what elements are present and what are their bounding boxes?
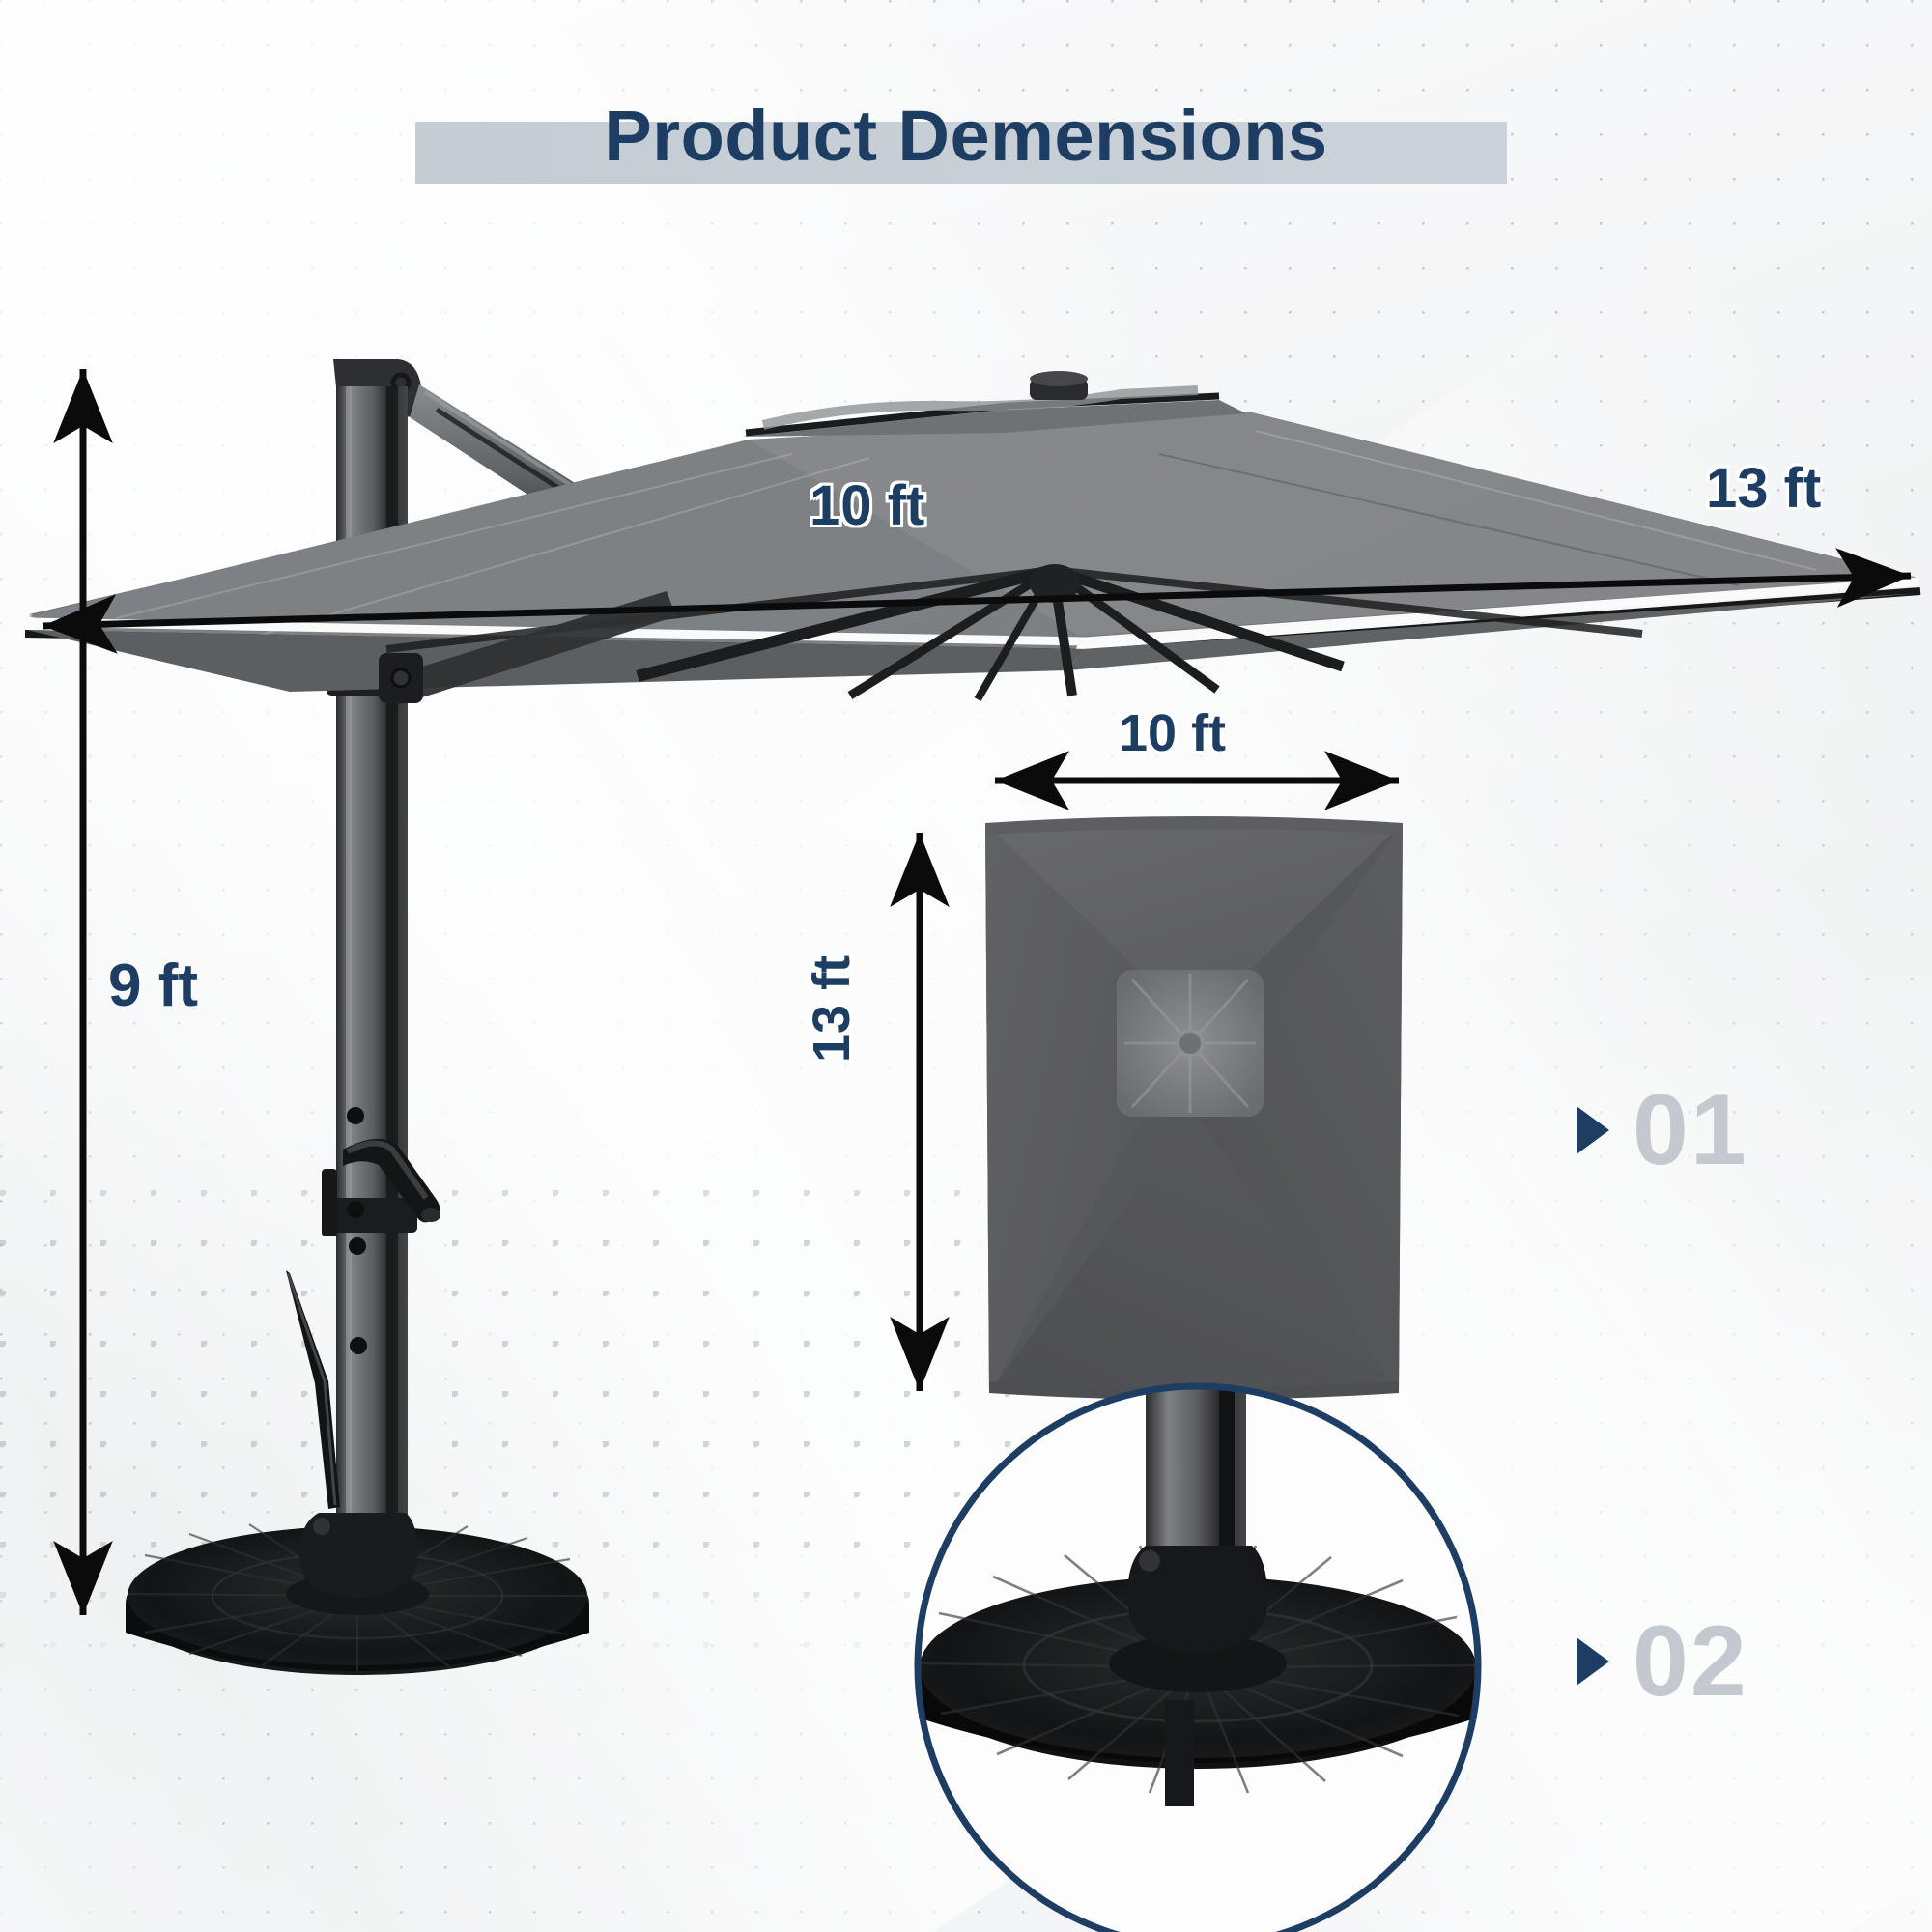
- mast-rivet-2: [347, 1201, 364, 1218]
- infographic-canvas: Product Demensions: [0, 0, 1932, 1932]
- mast-rivet-1: [347, 1107, 364, 1124]
- callout-02-number: 02: [1633, 1611, 1748, 1712]
- closeup-foot-bracket: [1165, 1700, 1194, 1806]
- mast-side-bracket: [322, 1169, 337, 1236]
- mast-rivet-3: [349, 1237, 366, 1255]
- page-title: Product Demensions: [604, 96, 1327, 176]
- canopy-3d: [25, 371, 1920, 692]
- mast-lower-collar: [325, 1198, 417, 1233]
- top-view-vent-hole: [1178, 1031, 1203, 1056]
- mast-rivet-4: [350, 1337, 367, 1354]
- dimension-label-depth-13ft: 13 ft: [1706, 456, 1821, 521]
- callout-01-triangle-icon: [1577, 1106, 1609, 1154]
- base-closeup-callout: [918, 1372, 1478, 1932]
- callout-02[interactable]: 02: [1577, 1611, 1748, 1712]
- base-pivot-bolt: [313, 1518, 330, 1535]
- dimension-label-height-9ft: 9 ft: [108, 952, 198, 1020]
- callout-02-triangle-icon: [1577, 1637, 1609, 1686]
- umbrella-base: [126, 1513, 589, 1675]
- stay-pivot-bolt: [392, 669, 410, 687]
- callout-01-number: 01: [1633, 1080, 1748, 1180]
- canopy-top-view: [985, 816, 1403, 1400]
- dimension-label-top-depth-13ft: 13 ft: [802, 955, 862, 1063]
- canopy-finial-top: [1030, 371, 1088, 386]
- dimension-label-top-width-10ft: 10 ft: [1119, 703, 1226, 763]
- dimension-label-width-10ft: 10 ft: [810, 473, 924, 538]
- umbrella-side-view: [25, 359, 1920, 1675]
- callout-01[interactable]: 01: [1577, 1080, 1748, 1180]
